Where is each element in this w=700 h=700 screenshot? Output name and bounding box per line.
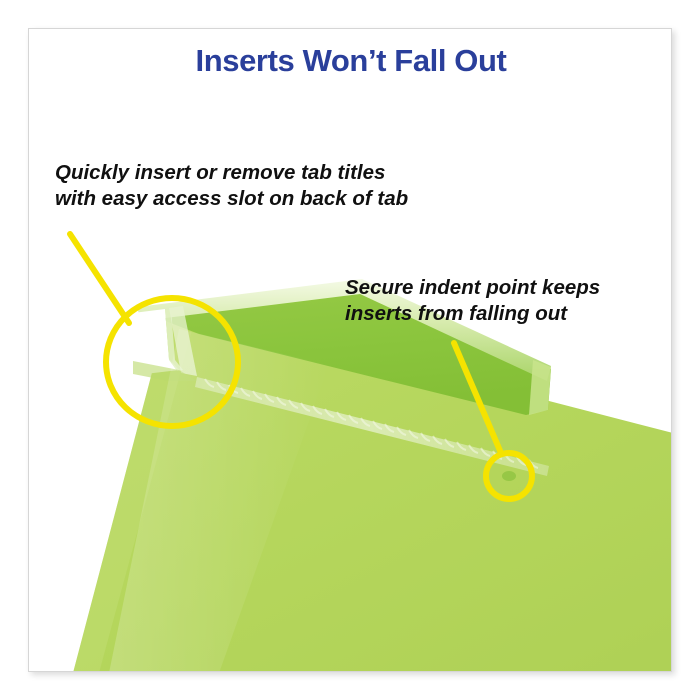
callout-label-easy-access-slot: Quickly insert or remove tab titles with… (55, 160, 408, 212)
product-feature-image: Inserts Won’t Fall Out Quickly insert or… (0, 0, 700, 700)
image-frame: Inserts Won’t Fall Out Quickly insert or… (28, 28, 672, 672)
callout-label-secure-indent-point: Secure indent point keeps inserts from f… (345, 275, 647, 327)
product-photograph (29, 29, 672, 672)
page-title: Inserts Won’t Fall Out (29, 43, 672, 79)
secure-indent-point (502, 471, 516, 481)
